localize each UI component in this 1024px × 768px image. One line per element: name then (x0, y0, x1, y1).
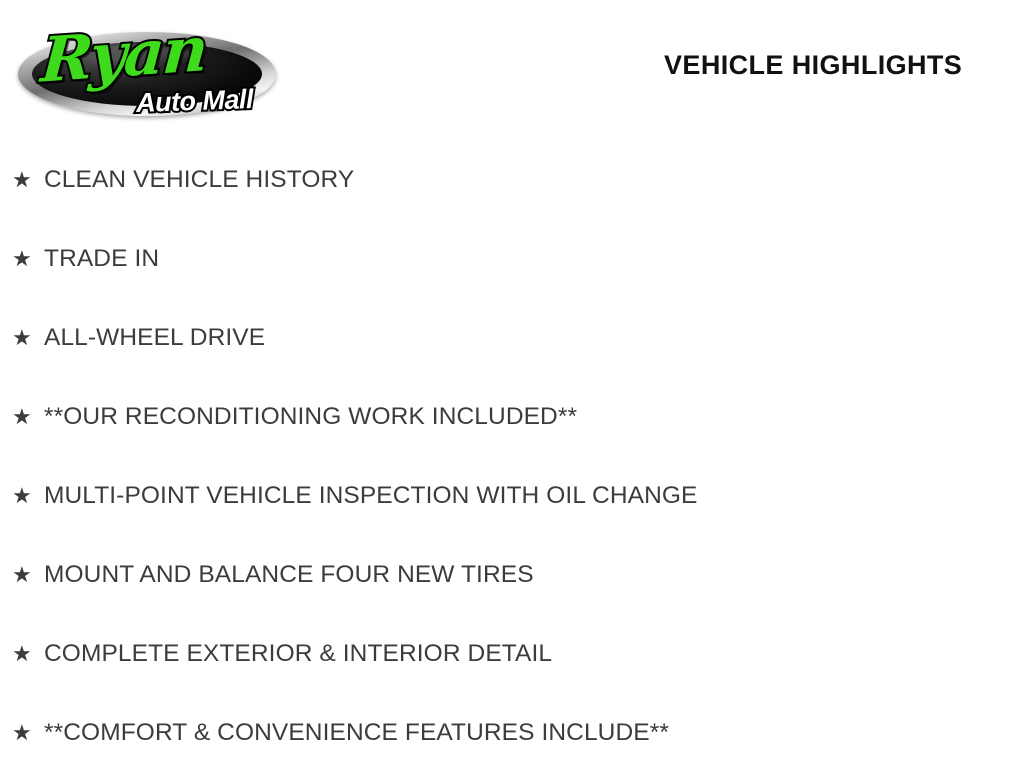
highlight-label: **OUR RECONDITIONING WORK INCLUDED** (44, 403, 1024, 431)
star-icon: ★ (12, 564, 44, 586)
star-icon: ★ (12, 643, 44, 665)
highlight-label: MOUNT AND BALANCE FOUR NEW TIRES (44, 561, 1024, 589)
list-item: ★ COMPLETE EXTERIOR & INTERIOR DETAIL (0, 614, 1024, 693)
vehicle-highlights-page: Ryan Auto Mall VEHICLE HIGHLIGHTS ★ CLEA… (0, 0, 1024, 768)
page-header: Ryan Auto Mall VEHICLE HIGHLIGHTS (0, 0, 1024, 130)
dealer-logo: Ryan Auto Mall (18, 10, 280, 120)
highlight-label: ALL-WHEEL DRIVE (44, 324, 1024, 352)
page-title: VEHICLE HIGHLIGHTS (664, 50, 962, 81)
highlight-label: MULTI-POINT VEHICLE INSPECTION WITH OIL … (44, 482, 1024, 510)
logo-brand-secondary-text: Auto Mall (136, 84, 254, 118)
list-item: ★ ALL-WHEEL DRIVE (0, 298, 1024, 377)
list-item: ★ CLEAN VEHICLE HISTORY (0, 140, 1024, 219)
star-icon: ★ (12, 327, 44, 349)
star-icon: ★ (12, 406, 44, 428)
list-item: ★ TRADE IN (0, 219, 1024, 298)
vehicle-highlights-list: ★ CLEAN VEHICLE HISTORY ★ TRADE IN ★ ALL… (0, 140, 1024, 768)
highlight-label: TRADE IN (44, 245, 1024, 273)
star-icon: ★ (12, 169, 44, 191)
highlight-label: **COMFORT & CONVENIENCE FEATURES INCLUDE… (44, 719, 1024, 747)
list-item: ★ **COMFORT & CONVENIENCE FEATURES INCLU… (0, 693, 1024, 768)
highlight-label: CLEAN VEHICLE HISTORY (44, 166, 1024, 194)
star-icon: ★ (12, 722, 44, 744)
highlight-label: COMPLETE EXTERIOR & INTERIOR DETAIL (44, 640, 1024, 668)
list-item: ★ **OUR RECONDITIONING WORK INCLUDED** (0, 377, 1024, 456)
list-item: ★ MOUNT AND BALANCE FOUR NEW TIRES (0, 535, 1024, 614)
list-item: ★ MULTI-POINT VEHICLE INSPECTION WITH OI… (0, 456, 1024, 535)
star-icon: ★ (12, 485, 44, 507)
star-icon: ★ (12, 248, 44, 270)
